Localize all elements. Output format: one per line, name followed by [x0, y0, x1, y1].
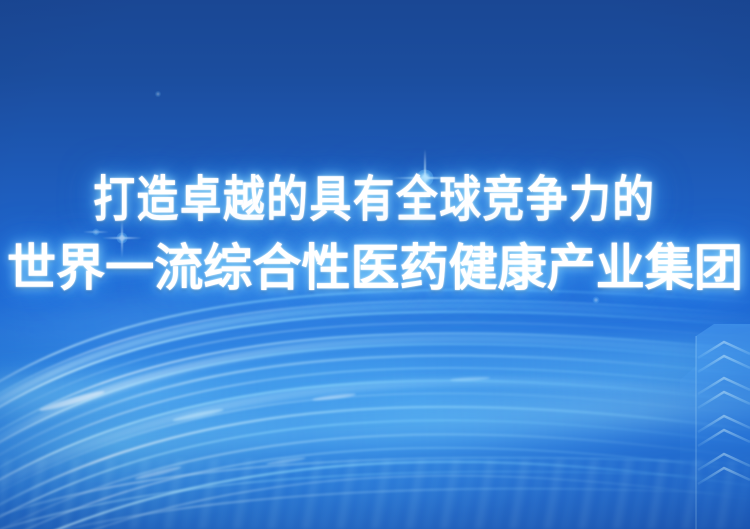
skyscraper-silhouette — [674, 314, 750, 529]
sparkle-core — [155, 91, 161, 97]
lens-flare-sparkle-upper-dim — [147, 83, 169, 105]
sparkle-ray-vertical — [424, 149, 426, 207]
sparkle-core — [417, 170, 434, 187]
headline-line-1: 打造卓越的具有全球竞争力的 — [94, 168, 656, 230]
lens-flare-sparkle-center-top — [390, 143, 460, 213]
bottom-shimmer-strip — [0, 459, 750, 529]
vision-banner: 打造卓越的具有全球竞争力的 世界一流综合性医药健康产业集团 — [0, 0, 750, 529]
sparkle-ray-horizontal — [393, 177, 457, 179]
